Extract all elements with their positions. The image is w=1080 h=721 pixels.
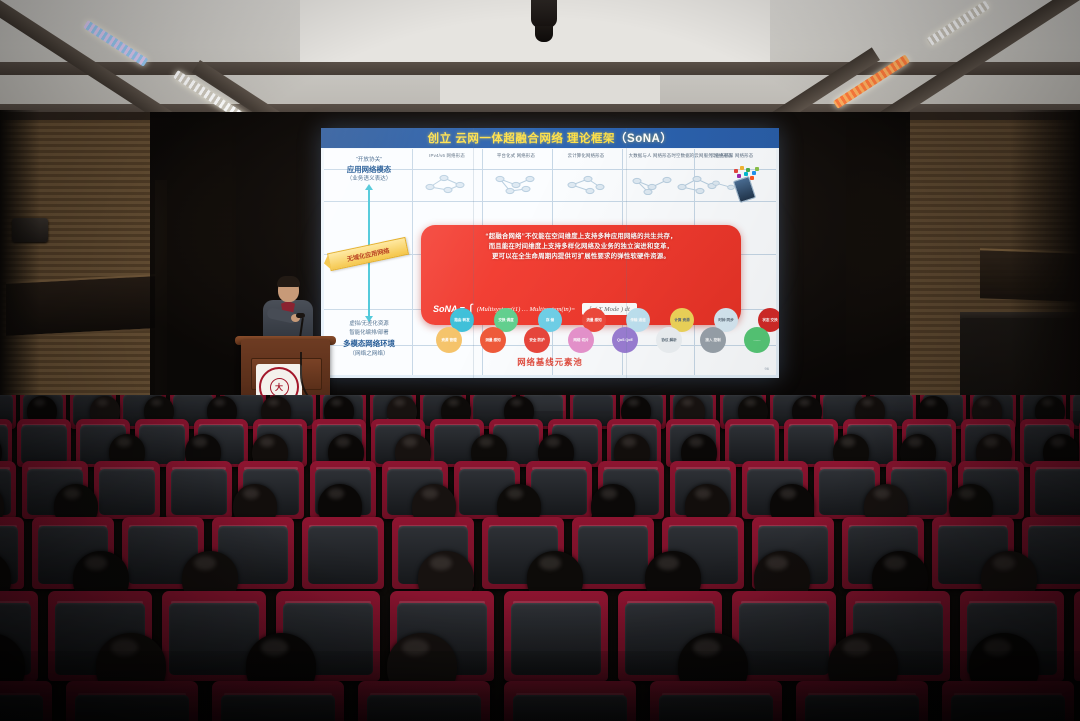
hair-highlight [979,399,990,407]
corner-shadow-left [0,110,40,430]
ceiling-light-strip-3 [926,0,990,46]
hair-highlight [628,399,639,407]
red-box-line-1: “超融合网络”不仅能在空间维度上支持多种应用网络的共生共存， [431,232,731,242]
baseline-chip: 资源 管理 [436,327,462,353]
hair-highlight [993,556,1014,570]
hair-highlight [34,399,45,407]
red-box-line-3: 更可以在全生命周期内提供可扩展性要求的弹性软硬件资源。 [431,252,731,262]
slide-title: 创立 云网一体超融合网络 理论框架 （SoNA） [321,128,779,148]
ceiling-beam-horizontal-1 [0,62,1080,75]
seat-back-panel [308,526,379,584]
hair-highlight [546,437,560,446]
hair-highlight [448,399,459,407]
hair-highlight [1051,437,1065,446]
ceiling-panel-inner [440,74,660,104]
ceiling-beam-diagonal-left-1 [0,0,210,118]
hair-highlight [745,399,756,407]
seat-back-panel [729,425,775,463]
hair-highlight [403,437,417,446]
hair-highlight [214,399,225,407]
auditorium-seat [166,461,232,519]
baseline-chip: 接入 控制 [700,327,726,353]
hair-highlight [862,399,873,407]
smartphone-body [733,176,756,203]
baseline-pool-label: 网络基线元素池 [324,356,776,368]
hair-highlight [64,488,81,499]
baseline-chip: 测量 感知 [480,327,506,353]
baseline-chip: 网络 切片 [568,327,594,353]
hair-highlight [328,488,345,499]
screen-seam-2 [626,128,627,378]
projection-screen: 创立 云网一体超融合网络 理论框架 （SoNA） IPv4/v6 网络形态 平台… [321,128,779,378]
hair-highlight [601,488,618,499]
corner-shadow-right [1010,110,1080,440]
slide-body: IPv4/v6 网络形态 平台化式 网络形态 云计算化网络形态 大数据与人 网络… [324,149,776,375]
hair-highlight [97,399,108,407]
topology-diagram-2 [560,173,608,195]
auditorium-seat [1030,461,1080,519]
topology-diagram-1 [490,173,538,195]
hair-highlight [422,488,439,499]
hair-highlight [925,399,936,407]
seat-back-panel [139,425,185,463]
hair-highlight [766,556,787,570]
hair-highlight [336,437,350,446]
hair-highlight [780,488,797,499]
hair-highlight [689,437,703,446]
auditorium-seat [0,419,12,467]
screen-seam-1 [473,128,474,378]
hair-highlight [194,556,215,570]
hair-highlight [657,556,678,570]
red-box-line-2: 而且能在时间维度上支持多样化网络及业务的独立演进和变革， [431,242,731,252]
row-label-bottom-3: 多模态网络环境 [327,338,411,349]
hair-highlight [193,437,207,446]
hair-highlight [908,437,922,446]
grid-line-v1 [412,149,413,375]
baseline-chip: 协议 解析 [656,327,682,353]
audience-area [0,395,1080,721]
ceiling [0,0,1080,118]
slide-title-en: （SoNA） [615,130,672,146]
row-label-sub-top: （业务语义表达） [327,174,411,182]
auditorium-seat [94,461,160,519]
seat-back-panel [99,469,156,515]
formula-body: (Multisystem(t1) … Multisystem(tn)= [477,306,576,313]
baseline-chip: 安全 防护 [524,327,550,353]
hair-highlight [539,556,560,570]
presenter-hair [277,276,300,287]
hair-highlight [874,488,891,499]
column-header-0: IPv4/v6 网络形态 [416,153,478,159]
auditorium-seat [725,419,779,467]
hair-highlight [695,488,712,499]
hair-highlight [85,556,106,570]
lecture-hall-photo: 创立 云网一体超融合网络 理论框架 （SoNA） IPv4/v6 网络形态 平台… [0,0,1080,721]
row-label-quote-top: “开放协关” [327,155,411,163]
hair-highlight [394,399,405,407]
hair-highlight [117,437,131,446]
hair-highlight [682,399,693,407]
seat-back-panel [788,425,834,463]
hair-highlight [984,437,998,446]
hair-highlight [841,437,855,446]
hair-highlight [243,488,260,499]
slide-title-cn: 创立 云网一体超融合网络 理论框架 [428,130,615,146]
hair-highlight [884,556,905,570]
auditorium-seat [572,517,654,589]
baseline-chip: QoS QoE [612,327,638,353]
hair-highlight [331,399,342,407]
column-header-5: 云业务感知 网络形态 [702,153,762,159]
hair-highlight [511,399,522,407]
column-header-1: 平台化式 网络形态 [484,153,548,159]
hair-highlight [959,488,976,499]
auditorium-seat [17,419,71,467]
auditorium-seat [784,419,838,467]
slide-page-number: 96 [765,366,769,371]
seat-back-panel [1035,469,1080,515]
hair-highlight [1042,399,1053,407]
hair-highlight [507,488,524,499]
auditorium-seat [302,517,384,589]
hair-highlight [799,399,810,407]
hair-highlight [268,399,279,407]
front-row-shadow [0,651,1080,721]
ceiling-projector [531,0,557,28]
row-label-bottom-2: 智能化编排/部署 [327,328,411,336]
presenter [261,278,313,344]
topology-diagram-0 [422,173,470,195]
hair-highlight [151,399,162,407]
hair-highlight [622,437,636,446]
hair-highlight [260,437,274,446]
seat-back-panel [21,425,67,463]
grid-line-h2 [324,201,776,202]
crest-core: 大 [270,378,289,397]
slide-canvas: 创立 云网一体超融合网络 理论框架 （SoNA） IPv4/v6 网络形态 平台… [321,128,779,378]
seat-back-panel [171,469,228,515]
hair-highlight [479,437,493,446]
baseline-chip: …… [744,327,770,353]
smartphone-icon [728,165,762,199]
hair-highlight [430,556,451,570]
column-header-2: 云计算化网络形态 [554,153,618,159]
topology-diagram-3 [628,173,676,195]
seat-back-panel [578,526,649,584]
